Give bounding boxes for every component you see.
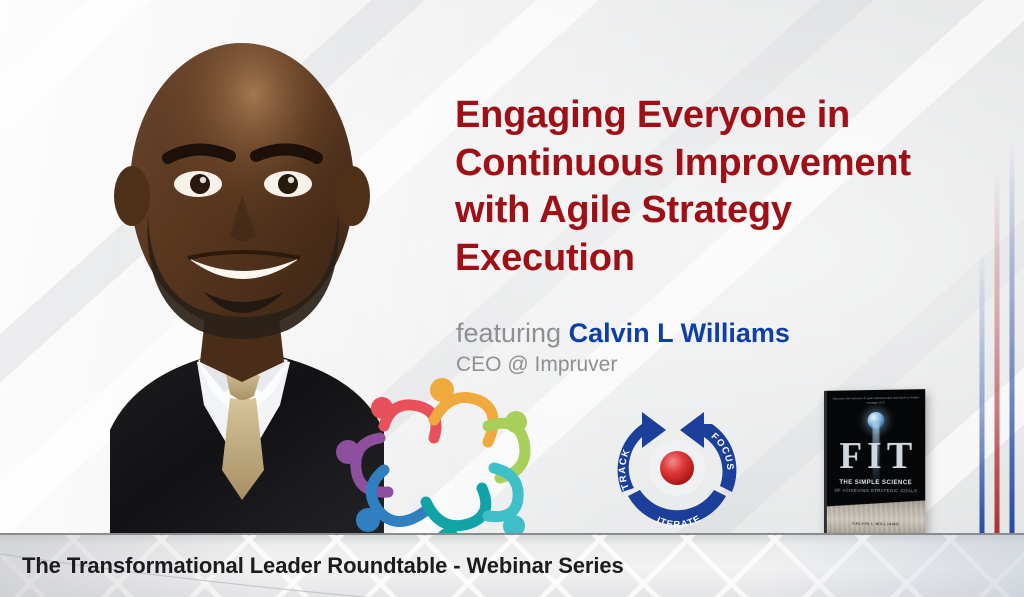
page-title: Engaging Everyone in Continuous Improvem… xyxy=(455,92,975,282)
connected-people-logo xyxy=(322,360,554,550)
speaker-name: Calvin L Williams xyxy=(569,318,790,348)
series-banner: The Transformational Leader Roundtable -… xyxy=(0,533,1024,597)
featuring-label: featuring xyxy=(456,318,561,348)
webinar-promo-poster: TRACK FOCUS ITERATE Engaging Everyone in… xyxy=(0,0,1024,597)
book-subtitle-line-1: THE SIMPLE SCIENCE xyxy=(827,480,925,486)
book-tagline: Discover the science of goal achievement… xyxy=(824,396,925,406)
speaker-info: featuring Calvin L Williams CEO @ Impruv… xyxy=(456,318,936,379)
badge-label-track: TRACK xyxy=(617,447,633,491)
speaker-role: CEO @ Impruver xyxy=(456,351,936,379)
book-title: FIT xyxy=(827,437,925,475)
title-line-2: Continuous Improvement xyxy=(455,140,975,188)
impruver-cycle-badge: TRACK FOCUS ITERATE xyxy=(604,404,750,536)
book-cover-fit: Discover the science of goal achievement… xyxy=(824,389,925,536)
title-line-3: with Agile Strategy xyxy=(455,187,975,235)
book-moon-surface xyxy=(827,497,925,536)
banner-title: The Transformational Leader Roundtable -… xyxy=(22,553,624,579)
book-subtitle-line-2: OF ACHIEVING STRATEGIC GOALS xyxy=(827,488,925,494)
title-line-1: Engaging Everyone in xyxy=(455,92,975,140)
title-line-4: Execution xyxy=(455,235,975,283)
